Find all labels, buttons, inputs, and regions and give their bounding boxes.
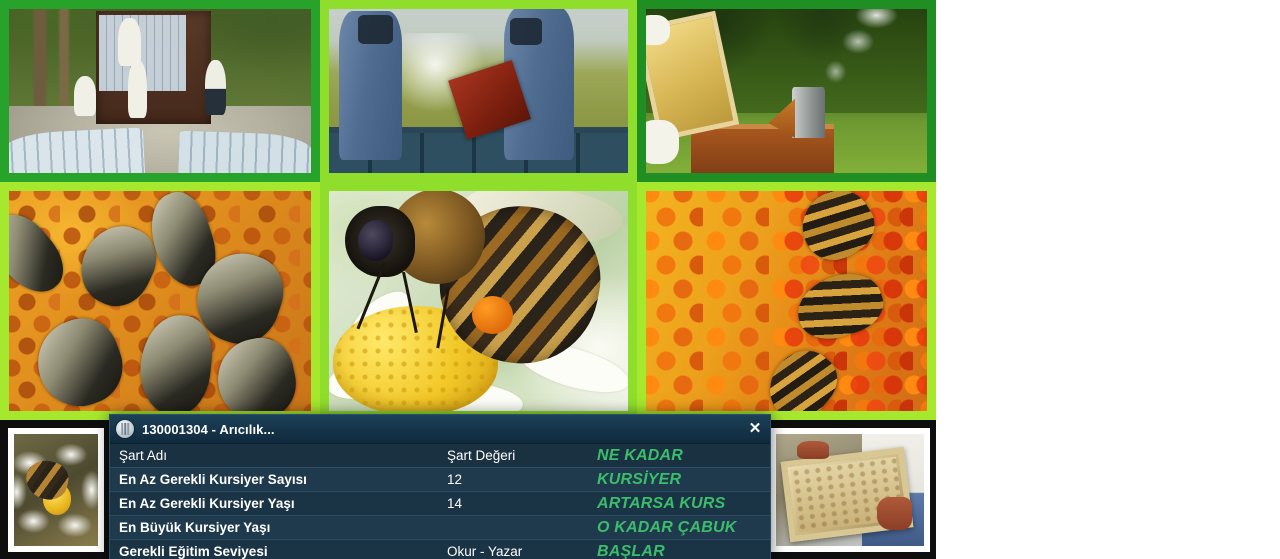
photo-border [0, 0, 320, 182]
grid-header-row: Şart Adı Şart Değeri NE KADAR [110, 444, 770, 468]
photo-bee-macro [320, 182, 637, 420]
condition-name: En Büyük Kursiyer Yaşı [119, 520, 447, 535]
condition-value: 12 [447, 472, 597, 487]
photo-border [0, 182, 320, 420]
thumb-hand-frame-image [776, 434, 924, 546]
condition-name: En Az Gerekli Kursiyer Yaşı [119, 496, 447, 511]
photo-comb-bees [0, 182, 320, 420]
close-icon[interactable]: ✕ [746, 420, 764, 438]
thumb-bee-daisy [8, 428, 104, 552]
photo-border [320, 0, 637, 182]
conditions-grid[interactable]: Şart Adı Şart Değeri NE KADAR En Az Gere… [110, 444, 770, 559]
photo-smoker-hive [637, 0, 936, 182]
overlay-note-line-3: ARTARSA KURS [597, 495, 770, 513]
overlay-note-line-5: BAŞLAR [597, 543, 770, 559]
overlay-note-line-1: NE KADAR [597, 447, 770, 465]
photo-blue-suits [320, 0, 637, 182]
globe-icon [116, 420, 134, 438]
photo-capped-comb [637, 182, 936, 420]
table-row[interactable]: En Büyük Kursiyer Yaşı O KADAR ÇABUK [110, 516, 770, 540]
table-row[interactable]: Gerekli Eğitim Seviyesi Okur - Yazar BAŞ… [110, 540, 770, 559]
photo-border [637, 0, 936, 182]
screenshot-root: 130001304 - Arıcılık... ✕ Şart Adı Şart … [0, 0, 1280, 559]
thumb-bee-daisy-image [14, 434, 98, 546]
gloved-hand [877, 497, 913, 531]
condition-name: En Az Gerekli Kursiyer Sayısı [119, 472, 447, 487]
gloved-hand [797, 441, 830, 459]
condition-value: 14 [447, 496, 597, 511]
dialog-title: 130001304 - Arıcılık... [142, 422, 275, 437]
overlay-note-line-2: KURSİYER [597, 471, 770, 489]
column-header-condition-value[interactable]: Şart Değeri [447, 448, 597, 463]
condition-name: Gerekli Eğitim Seviyesi [119, 544, 447, 559]
table-row[interactable]: En Az Gerekli Kursiyer Sayısı 12 KURSİYE… [110, 468, 770, 492]
photo-truck-hives [0, 0, 320, 182]
table-row[interactable]: En Az Gerekli Kursiyer Yaşı 14 ARTARSA K… [110, 492, 770, 516]
dialog-titlebar[interactable]: 130001304 - Arıcılık... ✕ [110, 415, 770, 444]
overlay-note-line-4: O KADAR ÇABUK [597, 519, 770, 537]
condition-value: Okur - Yazar [447, 544, 597, 559]
photo-border [637, 182, 936, 420]
course-conditions-dialog[interactable]: 130001304 - Arıcılık... ✕ Şart Adı Şart … [109, 414, 771, 559]
column-header-condition-name[interactable]: Şart Adı [119, 448, 447, 463]
thumb-hand-frame [770, 428, 930, 552]
beekeeping-photo-collage [0, 0, 936, 420]
photo-border [320, 182, 637, 420]
